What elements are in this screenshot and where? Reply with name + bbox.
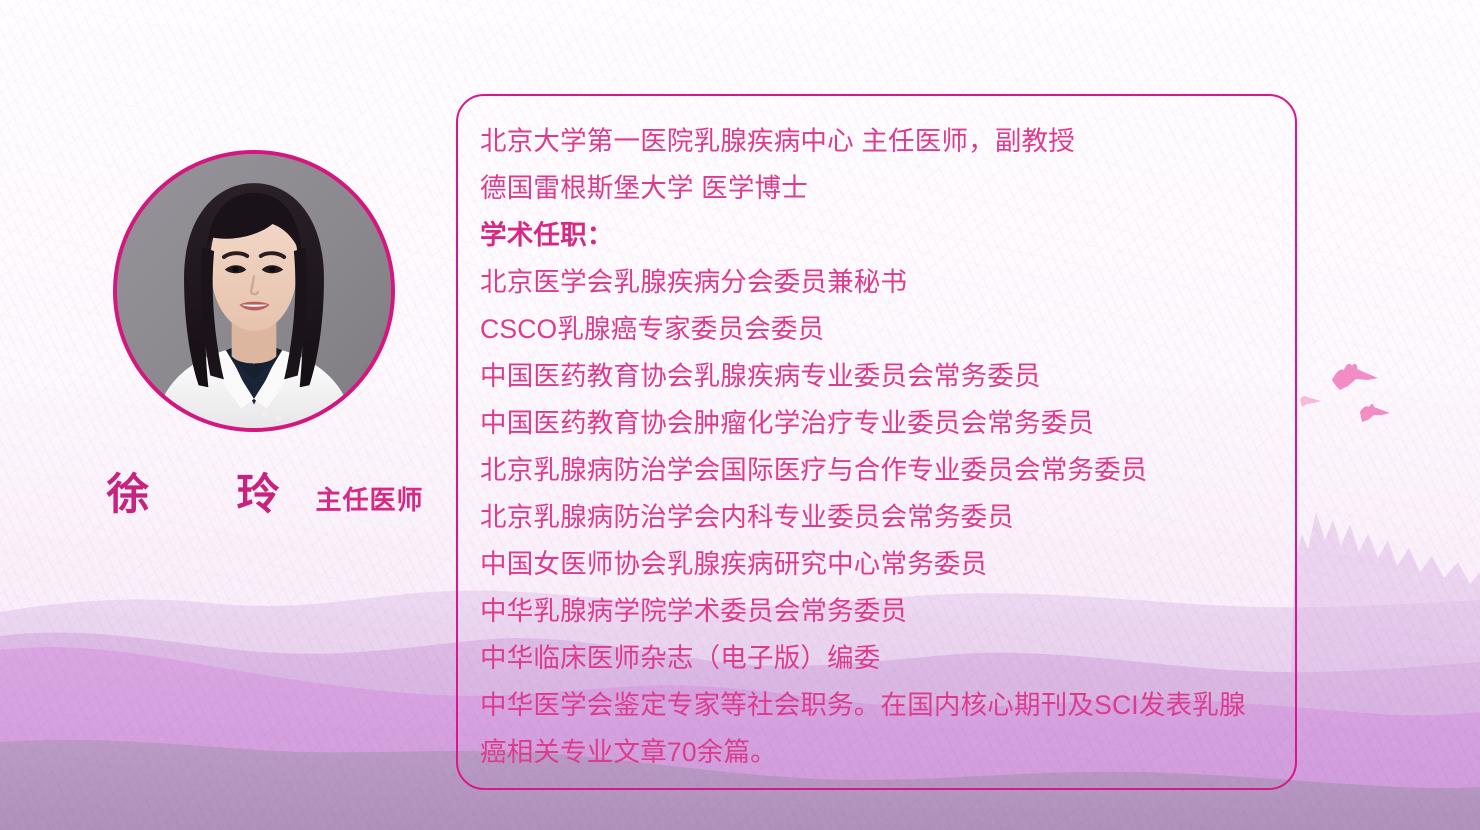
bio-line: CSCO乳腺癌专家委员会委员 [480,306,1261,353]
bio-line: 北京大学第一医院乳腺疾病中心 主任医师，副教授 [480,118,1261,165]
doctor-name: 徐 玲 [85,460,302,522]
bio-line: 中国医药教育协会乳腺疾病专业委员会常务委员 [480,353,1261,400]
bio-line: 中华乳腺病学院学术委员会常务委员 [480,588,1261,635]
forest-silhouette [1290,512,1480,720]
bio-line: 北京医学会乳腺疾病分会委员兼秘书 [480,259,1261,306]
bio-card: 北京大学第一医院乳腺疾病中心 主任医师，副教授德国雷根斯堡大学 医学博士学术任职… [456,94,1297,790]
name-row: 徐 玲 主任医师 [104,460,404,522]
bio-line: 北京乳腺病防治学会内科专业委员会常务委员 [480,494,1261,541]
portrait-illustration [117,154,391,428]
bio-line: 中华医学会鉴定专家等社会职务。在国内核心期刊及SCI发表乳腺癌相关专业文章70余… [480,682,1261,776]
avatar [113,150,395,432]
bio-line: 中国医药教育协会肿瘤化学治疗专业委员会常务委员 [480,400,1261,447]
bio-line: 北京乳腺病防治学会国际医疗与合作专业委员会常务委员 [480,447,1261,494]
bio-line: 中国女医师协会乳腺疾病研究中心常务委员 [480,541,1261,588]
slide-canvas: 徐 玲 主任医师 北京大学第一医院乳腺疾病中心 主任医师，副教授德国雷根斯堡大学… [0,0,1480,830]
doctor-title: 主任医师 [316,480,424,517]
bio-line: 德国雷根斯堡大学 医学博士 [480,165,1261,212]
bio-list: 北京大学第一医院乳腺疾病中心 主任医师，副教授德国雷根斯堡大学 医学博士学术任职… [480,118,1261,776]
flying-crane-silhouettes [1300,364,1390,422]
doctor-portrait-block: 徐 玲 主任医师 [104,150,404,522]
bio-line: 中华临床医师杂志（电子版）编委 [480,635,1261,682]
bio-line: 学术任职： [480,212,1261,259]
